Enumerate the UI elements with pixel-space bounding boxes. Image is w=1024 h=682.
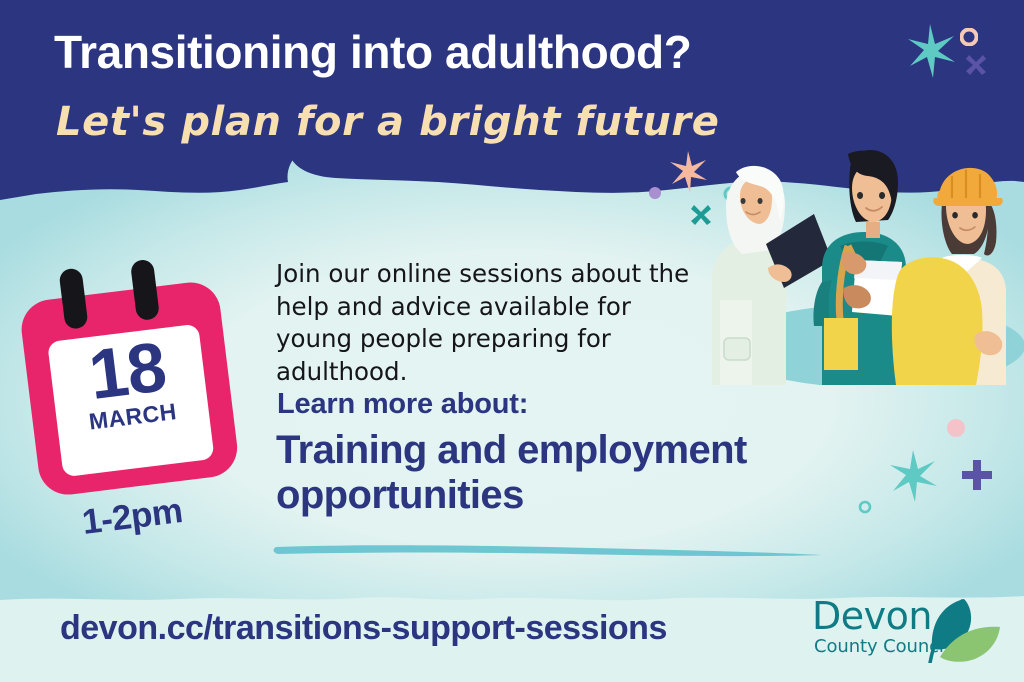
plus-purple-lower-right-icon bbox=[960, 458, 994, 492]
ring-teal-lower-right-icon bbox=[858, 500, 872, 514]
website-url[interactable]: devon.cc/transitions-support-sessions bbox=[60, 609, 667, 648]
calendar-page: 18 MARCH bbox=[47, 324, 214, 478]
intro-paragraph: Join our online sessions about the help … bbox=[276, 258, 706, 388]
woman-in-hard-hat-with-yellow-sheet bbox=[892, 168, 1006, 385]
calendar-day: 18 bbox=[85, 332, 169, 409]
page-subtitle: Let's plan for a bright future bbox=[56, 100, 816, 144]
dot-purple-wave-icon bbox=[648, 186, 662, 200]
cross-purple-top-right-icon bbox=[963, 52, 989, 78]
page-title: Transitioning into adulthood? bbox=[54, 28, 854, 76]
leaf-icon bbox=[920, 593, 1006, 663]
promotional-poster: Transitioning into adulthood? Let's plan… bbox=[0, 0, 1024, 682]
sparkle-teal-lower-right-icon bbox=[888, 448, 940, 504]
devon-county-council-logo: Devon County Council bbox=[812, 597, 1002, 661]
dot-pink-lower-right-icon bbox=[946, 418, 966, 438]
ring-peach-top-right-icon bbox=[960, 28, 978, 46]
calendar-icon: 18 MARCH bbox=[15, 250, 251, 504]
logo-primary-text: Devon bbox=[812, 597, 932, 635]
sparkle-teal-top-right-icon bbox=[905, 22, 959, 80]
learn-more-label: Learn more about: bbox=[277, 388, 528, 421]
brush-divider bbox=[272, 542, 824, 558]
session-topic: Training and employment opportunities bbox=[276, 428, 876, 518]
three-young-people-illustration bbox=[690, 150, 1024, 385]
